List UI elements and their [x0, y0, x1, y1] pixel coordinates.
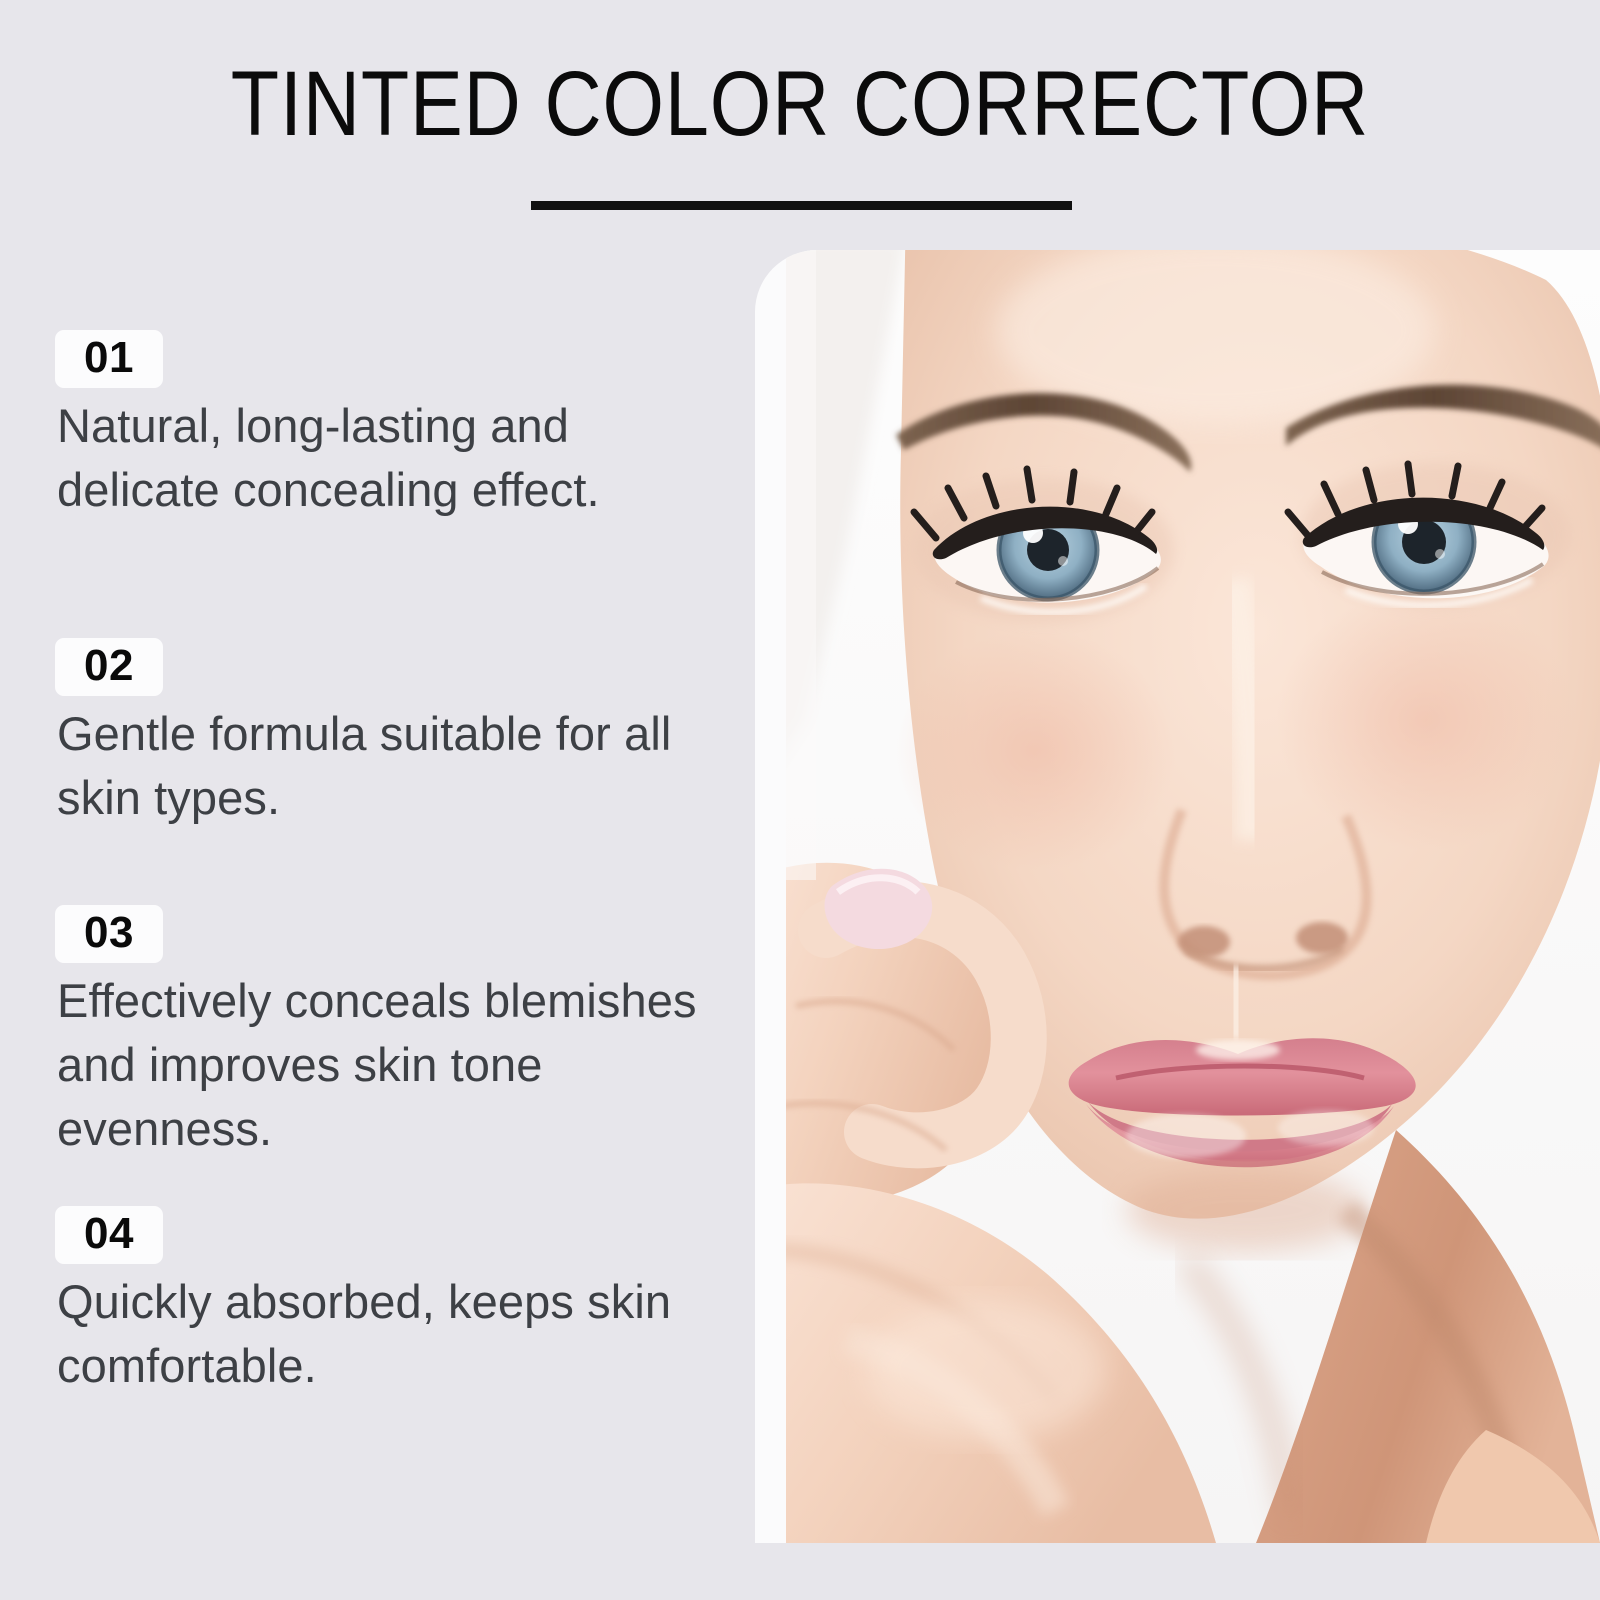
- feature-text-04: Quickly absorbed, keeps skin comfortable…: [57, 1270, 737, 1398]
- model-portrait-photo: [786, 250, 1600, 1543]
- feature-item-04: 04 Quickly absorbed, keeps skin comforta…: [55, 1206, 745, 1398]
- feature-number-badge-01: 01: [55, 330, 163, 388]
- feature-text-03: Effectively conceals blemishes and impro…: [57, 969, 737, 1161]
- product-feature-graphic: TINTED COLOR CORRECTOR 01 Natural, long-…: [0, 0, 1600, 1600]
- feature-item-01: 01 Natural, long-lasting and delicate co…: [55, 330, 745, 522]
- feature-number-badge-03: 03: [55, 905, 163, 963]
- feature-item-03: 03 Effectively conceals blemishes and im…: [55, 905, 745, 1161]
- header: TINTED COLOR CORRECTOR: [0, 0, 1600, 240]
- feature-number-badge-04: 04: [55, 1206, 163, 1264]
- feature-text-02: Gentle formula suitable for all skin typ…: [57, 702, 737, 830]
- page-title: TINTED COLOR CORRECTOR: [112, 56, 1488, 152]
- feature-text-01: Natural, long-lasting and delicate conce…: [57, 394, 737, 522]
- product-photo-panel: [755, 250, 1600, 1543]
- title-underline-rule: [531, 201, 1072, 210]
- feature-number-badge-02: 02: [55, 638, 163, 696]
- feature-item-02: 02 Gentle formula suitable for all skin …: [55, 638, 745, 830]
